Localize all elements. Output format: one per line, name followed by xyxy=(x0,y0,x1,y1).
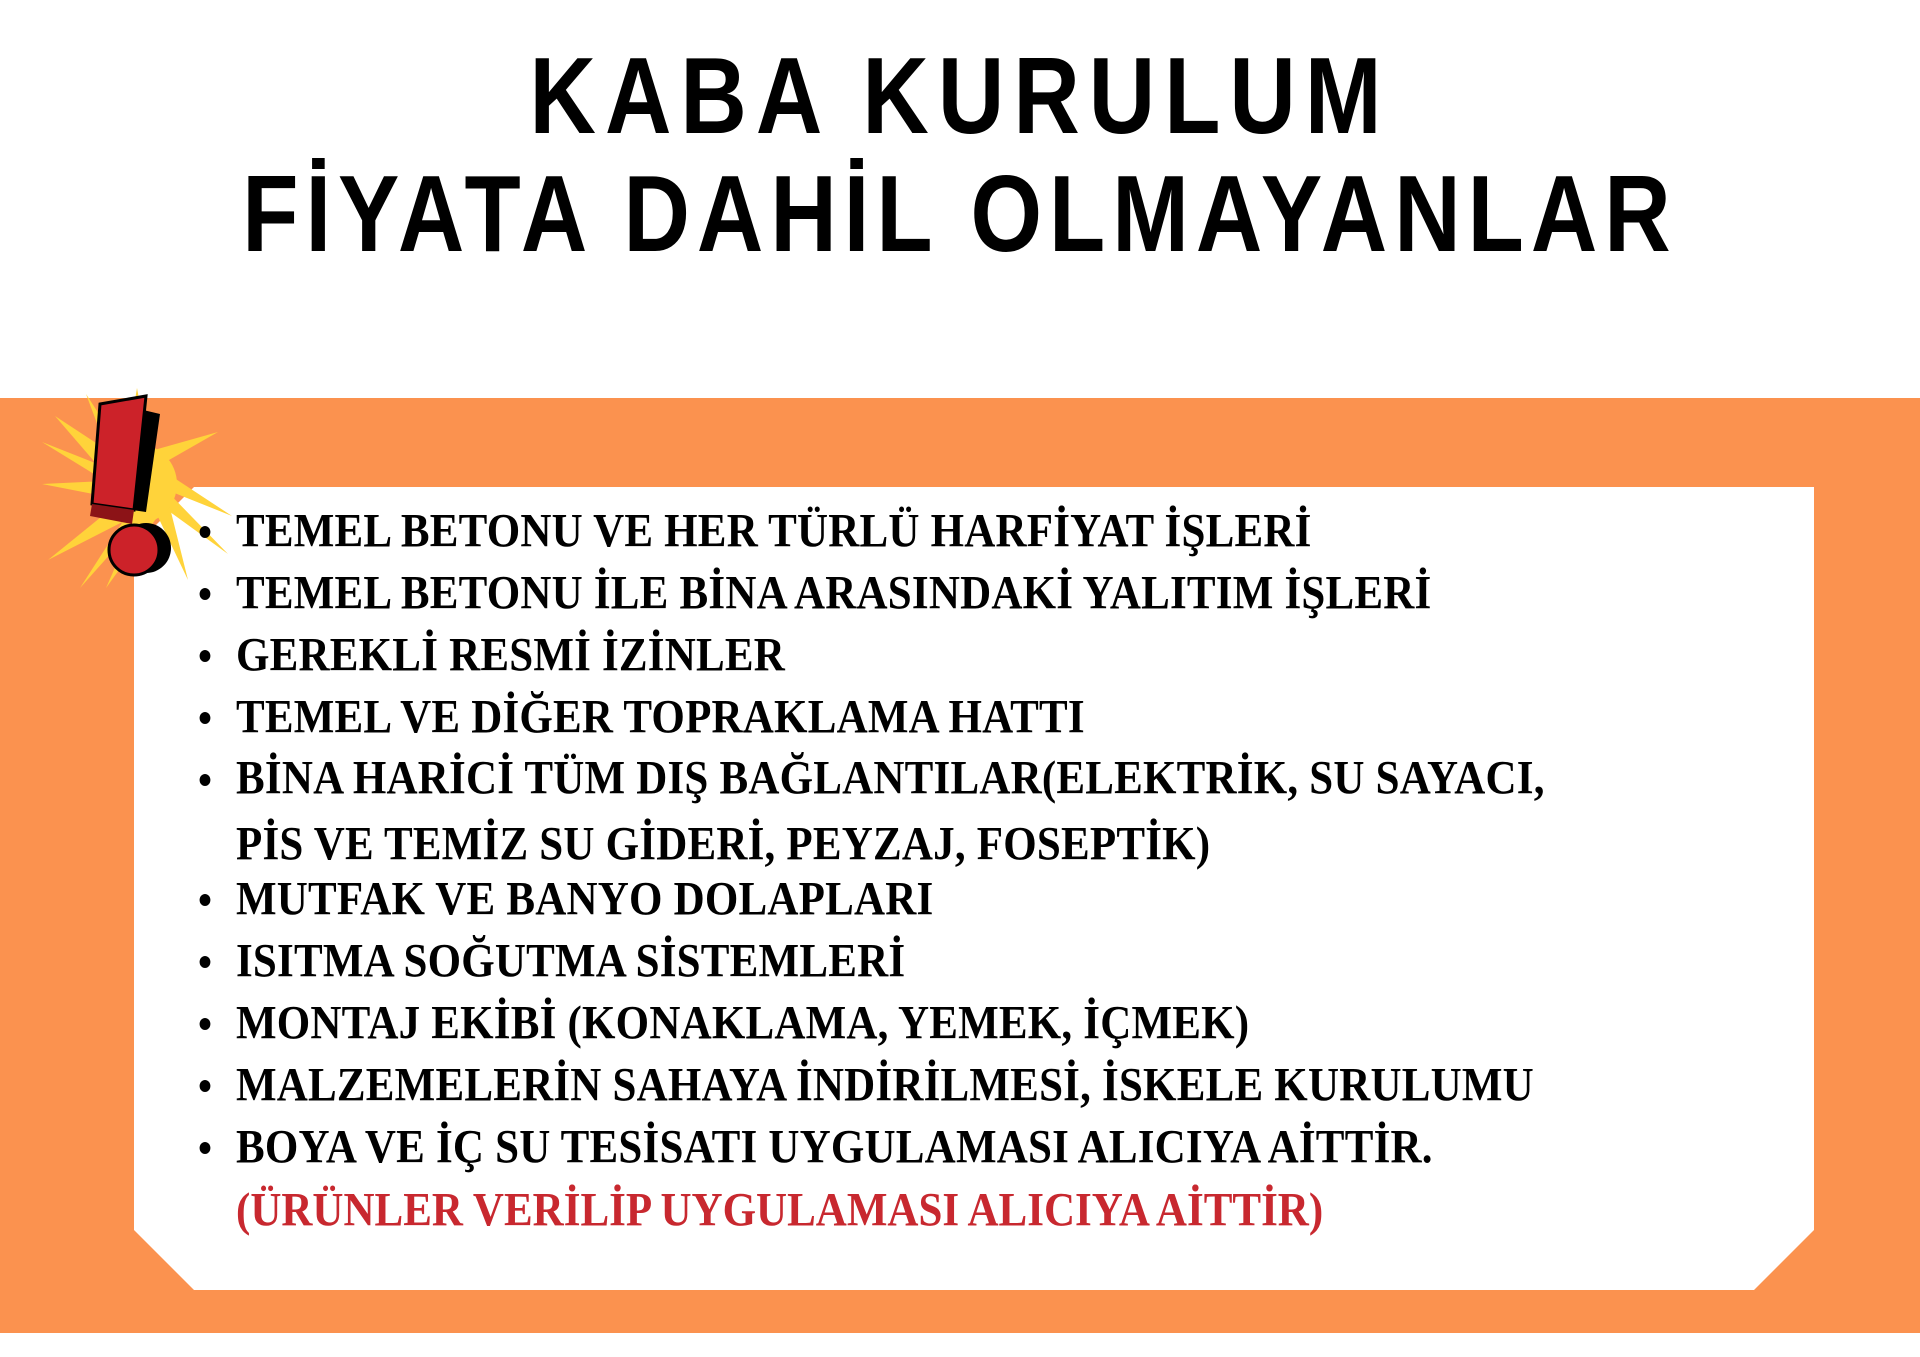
title-line-2: FİYATA DAHİL OLMAYANLAR xyxy=(0,146,1920,285)
footnote-text: (ÜRÜNLER VERİLİP UYGULAMASI ALICIYA AİTT… xyxy=(190,1176,1810,1246)
page-title: KABA KURULUM FİYATA DAHİL OLMAYANLAR xyxy=(0,28,1920,264)
list-item: TEMEL VE DİĞER TOPRAKLAMA HATTI xyxy=(190,684,1810,752)
slide-root: KABA KURULUM FİYATA DAHİL OLMAYANLAR xyxy=(0,0,1920,1357)
list-item: BOYA VE İÇ SU TESİSATI UYGULAMASI ALICIY… xyxy=(190,1114,1810,1182)
list-item: ISITMA SOĞUTMA SİSTEMLERİ xyxy=(190,928,1810,996)
list-item: MONTAJ EKİBİ (KONAKLAMA, YEMEK, İÇMEK) xyxy=(190,990,1810,1058)
list-item: TEMEL BETONU VE HER TÜRLÜ HARFİYAT İŞLER… xyxy=(190,498,1810,566)
list-item: GEREKLİ RESMİ İZİNLER xyxy=(190,622,1810,690)
exclamation-dot xyxy=(109,525,159,575)
list-item: BİNA HARİCİ TÜM DIŞ BAĞLANTILAR(ELEKTRİK… xyxy=(190,746,1810,878)
list-item: TEMEL BETONU İLE BİNA ARASINDAKİ YALITIM… xyxy=(190,560,1810,628)
list-item: MALZEMELERİN SAHAYA İNDİRİLMESİ, İSKELE … xyxy=(190,1052,1810,1120)
exclusions-list: TEMEL BETONU VE HER TÜRLÜ HARFİYAT İŞLER… xyxy=(190,498,1810,1240)
list-item: MUTFAK VE BANYO DOLAPLARI xyxy=(190,866,1810,934)
